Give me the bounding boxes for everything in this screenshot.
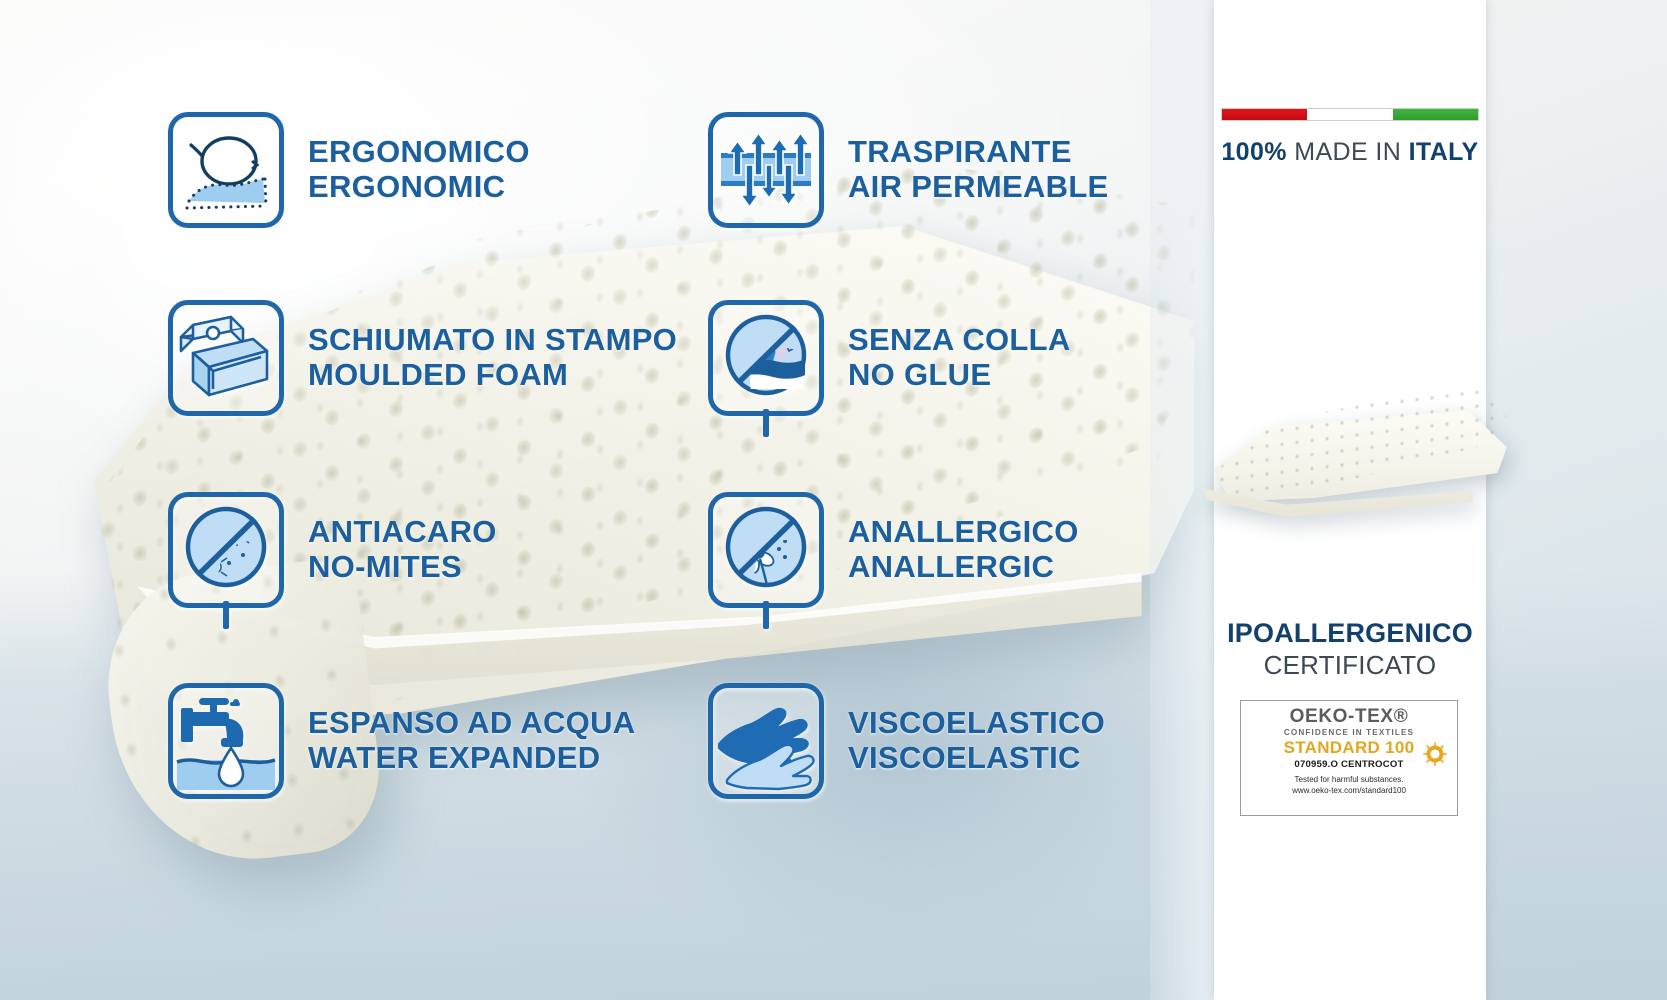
oeko-tex-brand: OEKO-TEX®: [1247, 707, 1451, 727]
feature-label-it: ANALLERGICO: [848, 515, 1079, 550]
feature-moulded-foam: SCHIUMATO IN STAMPO MOULDED FOAM: [168, 300, 677, 416]
sign-post: [763, 601, 769, 629]
feature-label-it: TRASPIRANTE: [848, 135, 1109, 170]
right-info-panel: 100% MADE IN ITALY IPOALLERGENICO CERTIF…: [1214, 0, 1486, 1000]
air-flow-arrows-icon: [708, 112, 824, 228]
faucet-water-drop-icon: [168, 683, 284, 799]
feature-label-it: SENZA COLLA: [848, 323, 1071, 358]
feature-water-expanded-label: ESPANSO AD ACQUA WATER EXPANDED: [308, 706, 635, 775]
product-pillow-thumbnail: [1185, 400, 1507, 550]
product-infographic: ERGONOMICO ERGONOMIC: [0, 0, 1667, 1000]
feature-breathable: TRASPIRANTE AIR PERMEABLE: [708, 112, 1109, 228]
feature-water-expanded: ESPANSO AD ACQUA WATER EXPANDED: [168, 683, 635, 799]
feature-label-it: ERGONOMICO: [308, 135, 530, 170]
feature-viscoelastic: VISCOELASTICO VISCOELASTIC: [708, 683, 1105, 799]
feature-label-en: MOULDED FOAM: [308, 358, 677, 393]
hypoallergenic-subtitle: CERTIFICATO: [1221, 650, 1479, 681]
feature-label-en: NO-MITES: [308, 550, 497, 585]
feature-viscoelastic-label: VISCOELASTICO VISCOELASTIC: [848, 706, 1105, 775]
feature-label-en: ERGONOMIC: [308, 170, 530, 205]
made-in-middle: MADE IN: [1287, 138, 1409, 166]
made-in-percent: 100%: [1221, 138, 1287, 166]
oeko-tex-number: 070959.O CENTROCOT: [1247, 759, 1451, 770]
feature-no-mites: ANTIACARO NO-MITES: [168, 492, 497, 608]
feature-label-it: ANTIACARO: [308, 515, 497, 550]
feature-no-glue-label: SENZA COLLA NO GLUE: [848, 323, 1071, 392]
oeko-tex-certificate: OEKO-TEX® CONFIDENCE IN TEXTILES STANDAR…: [1240, 700, 1458, 816]
feature-moulded-foam-label: SCHIUMATO IN STAMPO MOULDED FOAM: [308, 323, 677, 392]
feature-label-en: VISCOELASTIC: [848, 741, 1105, 776]
feature-anallergic-label: ANALLERGICO ANALLERGIC: [848, 515, 1079, 584]
feature-label-en: ANALLERGIC: [848, 550, 1079, 585]
flag-segment-white: [1307, 109, 1392, 120]
feature-label-it: VISCOELASTICO: [848, 706, 1105, 741]
feature-ergonomic-label: ERGONOMICO ERGONOMIC: [308, 135, 530, 204]
feature-label-it: SCHIUMATO IN STAMPO: [308, 323, 677, 358]
no-mites-sign-icon: [168, 492, 284, 608]
oeko-tex-tagline: CONFIDENCE IN TEXTILES: [1247, 728, 1451, 737]
feature-label-it: ESPANSO AD ACQUA: [308, 706, 635, 741]
sign-post: [223, 601, 229, 629]
feature-anallergic: ANALLERGICO ANALLERGIC: [708, 492, 1079, 608]
oeko-tex-seal-icon: [1422, 741, 1448, 767]
pillow-head-icon: [168, 112, 284, 228]
feature-label-en: AIR PERMEABLE: [848, 170, 1109, 205]
feature-label-en: WATER EXPANDED: [308, 741, 635, 776]
flag-segment-red: [1222, 109, 1307, 120]
sign-post: [763, 409, 769, 437]
hypoallergenic-title: IPOALLERGENICO: [1221, 618, 1479, 649]
feature-no-glue: SENZA COLLA NO GLUE: [708, 300, 1071, 416]
feature-ergonomic: ERGONOMICO ERGONOMIC: [168, 112, 530, 228]
made-in-country: ITALY: [1409, 138, 1479, 166]
oeko-tex-fineprint-2: www.oeko-tex.com/standard100: [1247, 786, 1451, 797]
made-in-italy-text: 100% MADE IN ITALY: [1221, 138, 1479, 167]
oeko-tex-standard: STANDARD 100: [1247, 739, 1451, 757]
no-pollen-sign-icon: [708, 492, 824, 608]
two-hands-icon: [708, 683, 824, 799]
feature-breathable-label: TRASPIRANTE AIR PERMEABLE: [848, 135, 1109, 204]
flag-segment-green: [1393, 109, 1478, 120]
italian-flag-icon: [1221, 108, 1479, 121]
oeko-tex-fineprint-1: Tested for harmful substances.: [1247, 775, 1451, 786]
open-mould-box-icon: [168, 300, 284, 416]
feature-label-en: NO GLUE: [848, 358, 1071, 393]
no-glue-sign-icon: [708, 300, 824, 416]
feature-no-mites-label: ANTIACARO NO-MITES: [308, 515, 497, 584]
